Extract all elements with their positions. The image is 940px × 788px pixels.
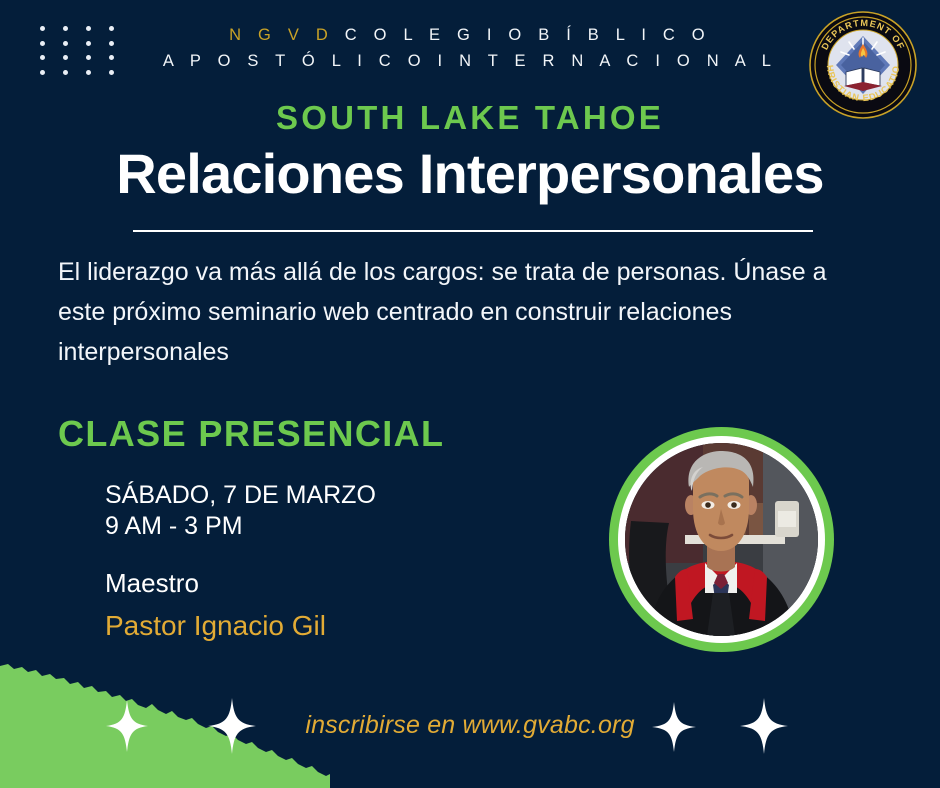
avatar xyxy=(625,443,818,636)
organization-line-2: A P O S T Ó L I C O I N T E R N A C I O … xyxy=(0,48,940,74)
flyer-canvas: N G V D C O L E G I O B Í B L I C O A P … xyxy=(0,0,940,788)
registration-cta[interactable]: inscribirse en www.gvabc.org xyxy=(0,708,940,742)
dot-grid-icon xyxy=(40,26,132,84)
class-format-heading: CLASE PRESENCIAL xyxy=(58,412,444,456)
event-details: SÁBADO, 7 DE MARZO 9 AM - 3 PM Maestro P… xyxy=(105,480,575,644)
instructor-portrait-frame xyxy=(609,427,834,652)
organization-eyebrow: N G V D C O L E G I O B Í B L I C O A P … xyxy=(0,22,940,74)
event-time: 9 AM - 3 PM xyxy=(105,511,575,542)
description-paragraph: El liderazgo va más allá de los cargos: … xyxy=(58,252,868,372)
organization-acronym: N G V D xyxy=(229,26,334,44)
instructor-name: Pastor Ignacio Gil xyxy=(105,608,575,644)
title-divider xyxy=(133,230,813,232)
event-date: SÁBADO, 7 DE MARZO xyxy=(105,480,575,511)
instructor-role-label: Maestro xyxy=(105,566,575,600)
event-location: SOUTH LAKE TAHOE xyxy=(0,98,940,138)
page-title: Relaciones Interpersonales xyxy=(0,142,940,206)
organization-line-1: N G V D C O L E G I O B Í B L I C O xyxy=(0,22,940,48)
portrait-inner-ring xyxy=(618,436,825,643)
organization-name-part: C O L E G I O B Í B L I C O xyxy=(334,26,711,44)
